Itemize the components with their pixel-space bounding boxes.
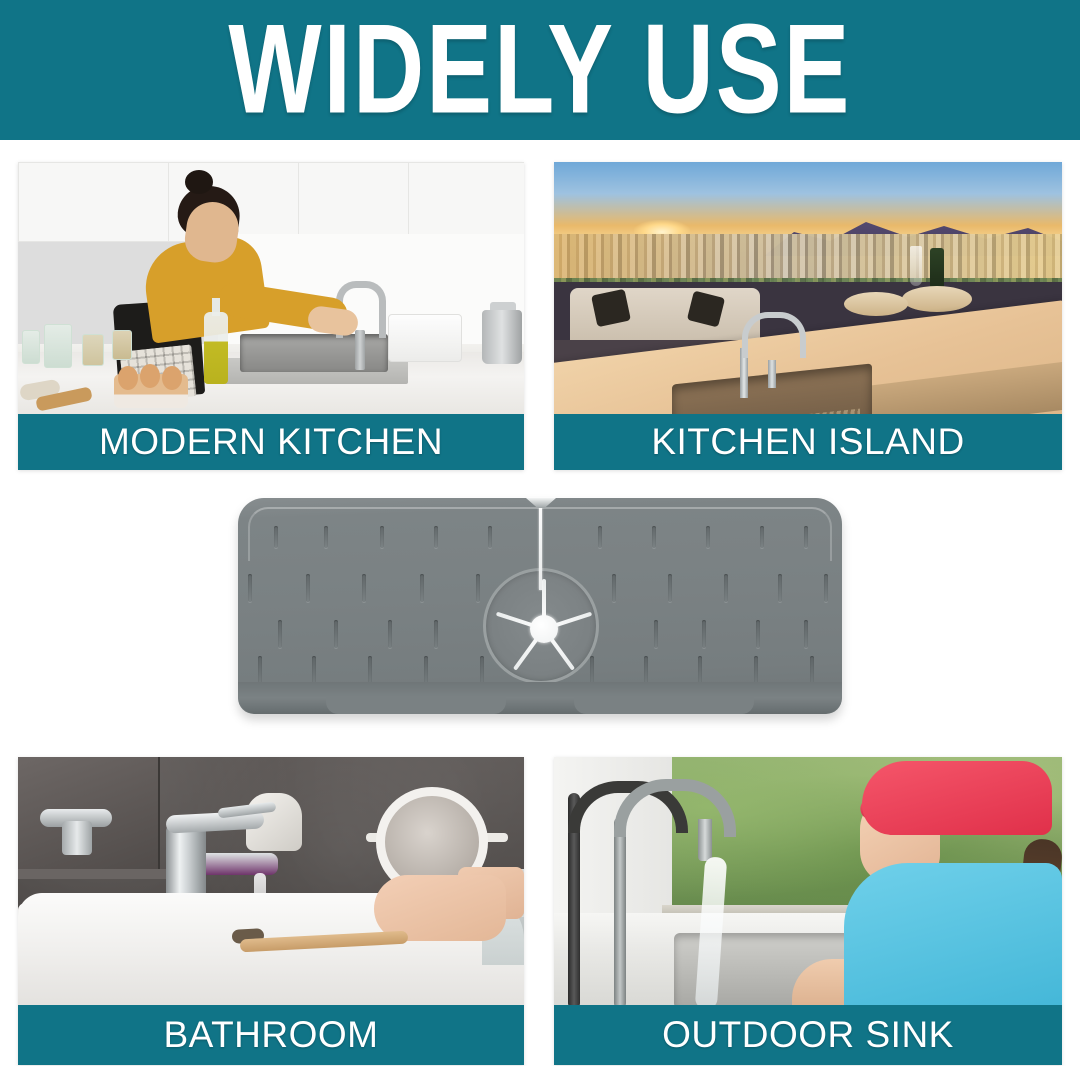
photo-outdoor-sink xyxy=(554,757,1062,1009)
photo-kitchen-island xyxy=(554,162,1062,414)
wine-glass xyxy=(910,246,922,286)
photo-bathroom xyxy=(18,757,524,1009)
caption-label: BATHROOM xyxy=(163,1014,378,1056)
mat-split-slit xyxy=(539,498,542,590)
header-banner: WIDELY USE xyxy=(0,0,1080,140)
page-title: WIDELY USE xyxy=(229,7,852,134)
photo-modern-kitchen xyxy=(18,162,524,414)
lip-notch xyxy=(326,696,506,714)
footer-margin xyxy=(0,1066,1080,1080)
mirrored-faucet-base xyxy=(62,821,92,855)
cabinet-door xyxy=(298,162,410,242)
egg-carton xyxy=(114,374,188,408)
glass-jar xyxy=(22,330,40,364)
caption-label: MODERN KITCHEN xyxy=(99,421,443,463)
mat-body xyxy=(238,498,842,714)
lip-notch xyxy=(574,696,754,714)
caption-label: OUTDOOR SINK xyxy=(662,1014,954,1056)
caption-bar-modern-kitchen: MODERN KITCHEN xyxy=(18,414,524,470)
panel-kitchen-island[interactable]: KITCHEN ISLAND xyxy=(554,162,1062,470)
kitchen-sink-basin xyxy=(240,334,388,372)
moka-pot xyxy=(482,310,522,364)
faucet-pipe xyxy=(614,817,626,1009)
glass-jar xyxy=(82,334,104,366)
caption-bar-outdoor-sink: OUTDOOR SINK xyxy=(554,1005,1062,1065)
hair-bun xyxy=(185,170,213,194)
serving-tray xyxy=(844,292,908,316)
faucet-spout xyxy=(206,853,278,875)
cabinet-door xyxy=(18,162,170,242)
gooseneck-faucet xyxy=(742,312,806,358)
mat-front-lip xyxy=(238,682,842,714)
glass-jar xyxy=(44,324,72,368)
hole-center xyxy=(530,615,558,643)
serving-tray xyxy=(902,286,972,312)
cabinet-door xyxy=(408,162,524,236)
caption-bar-kitchen-island: KITCHEN ISLAND xyxy=(554,414,1062,470)
egg xyxy=(118,366,138,390)
soap-dispenser xyxy=(768,360,776,388)
blue-tshirt xyxy=(844,863,1062,1009)
caption-bar-bathroom: BATHROOM xyxy=(18,1005,524,1065)
red-cap xyxy=(862,761,1052,835)
toaster xyxy=(388,314,462,362)
egg xyxy=(162,366,182,390)
infographic-page: WIDELY USE xyxy=(0,0,1080,1080)
olive-oil-bottle xyxy=(204,312,228,384)
panel-bathroom[interactable]: BATHROOM xyxy=(18,757,524,1065)
glass-jar xyxy=(112,330,132,360)
product-silicone-faucet-mat[interactable] xyxy=(238,498,842,730)
egg xyxy=(140,364,160,388)
mirror-ledge xyxy=(18,869,178,879)
panel-outdoor-sink[interactable]: OUTDOOR SINK xyxy=(554,757,1062,1065)
faucet-handle xyxy=(355,330,365,370)
caption-label: KITCHEN ISLAND xyxy=(651,421,964,463)
faucet-spout xyxy=(698,819,712,861)
panel-modern-kitchen[interactable]: MODERN KITCHEN xyxy=(18,162,524,470)
